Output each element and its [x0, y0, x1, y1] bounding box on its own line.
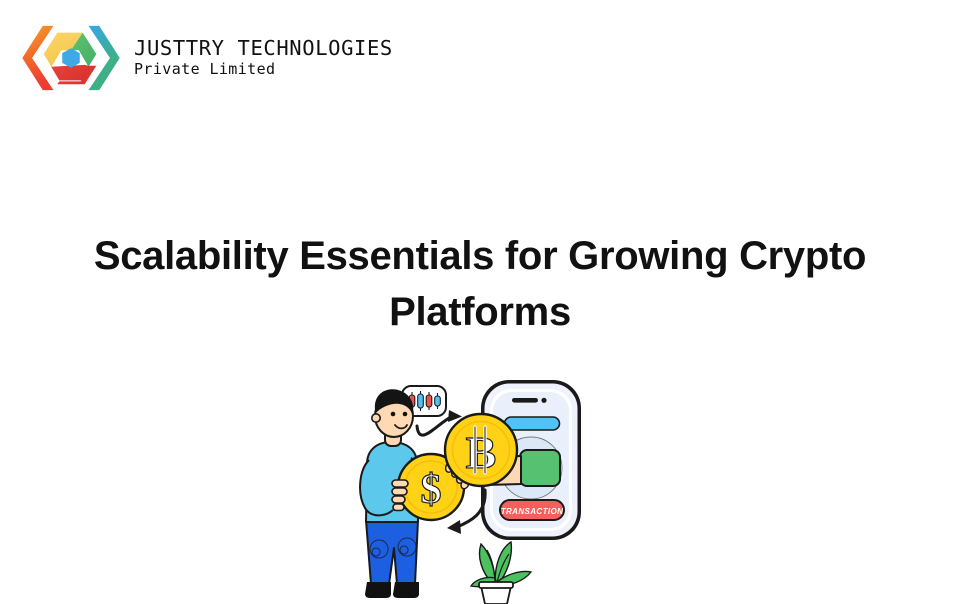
- brand-text-block: JUSTTRY TECHNOLOGIES Private Limited: [134, 38, 393, 78]
- brand-header: JUSTTRY TECHNOLOGIES Private Limited: [22, 20, 393, 96]
- curved-arrow-right-icon: [417, 417, 451, 435]
- svg-text:$: $: [421, 467, 442, 513]
- bitcoin-coin-icon: B: [445, 414, 517, 486]
- justtry-hexagon-logo-icon: [22, 20, 120, 96]
- company-subtitle: Private Limited: [134, 62, 393, 78]
- transaction-button[interactable]: TRANSACTION: [500, 500, 564, 520]
- company-name: JUSTTRY TECHNOLOGIES: [134, 38, 393, 60]
- crypto-exchange-illustration: TRANSACTION: [345, 372, 615, 604]
- potted-plant-icon: [471, 542, 531, 604]
- svg-text:B: B: [466, 427, 497, 478]
- transaction-button-label: TRANSACTION: [501, 507, 564, 516]
- arrow-head-left-icon: [447, 520, 461, 534]
- page-title: Scalability Essentials for Growing Crypt…: [0, 228, 960, 340]
